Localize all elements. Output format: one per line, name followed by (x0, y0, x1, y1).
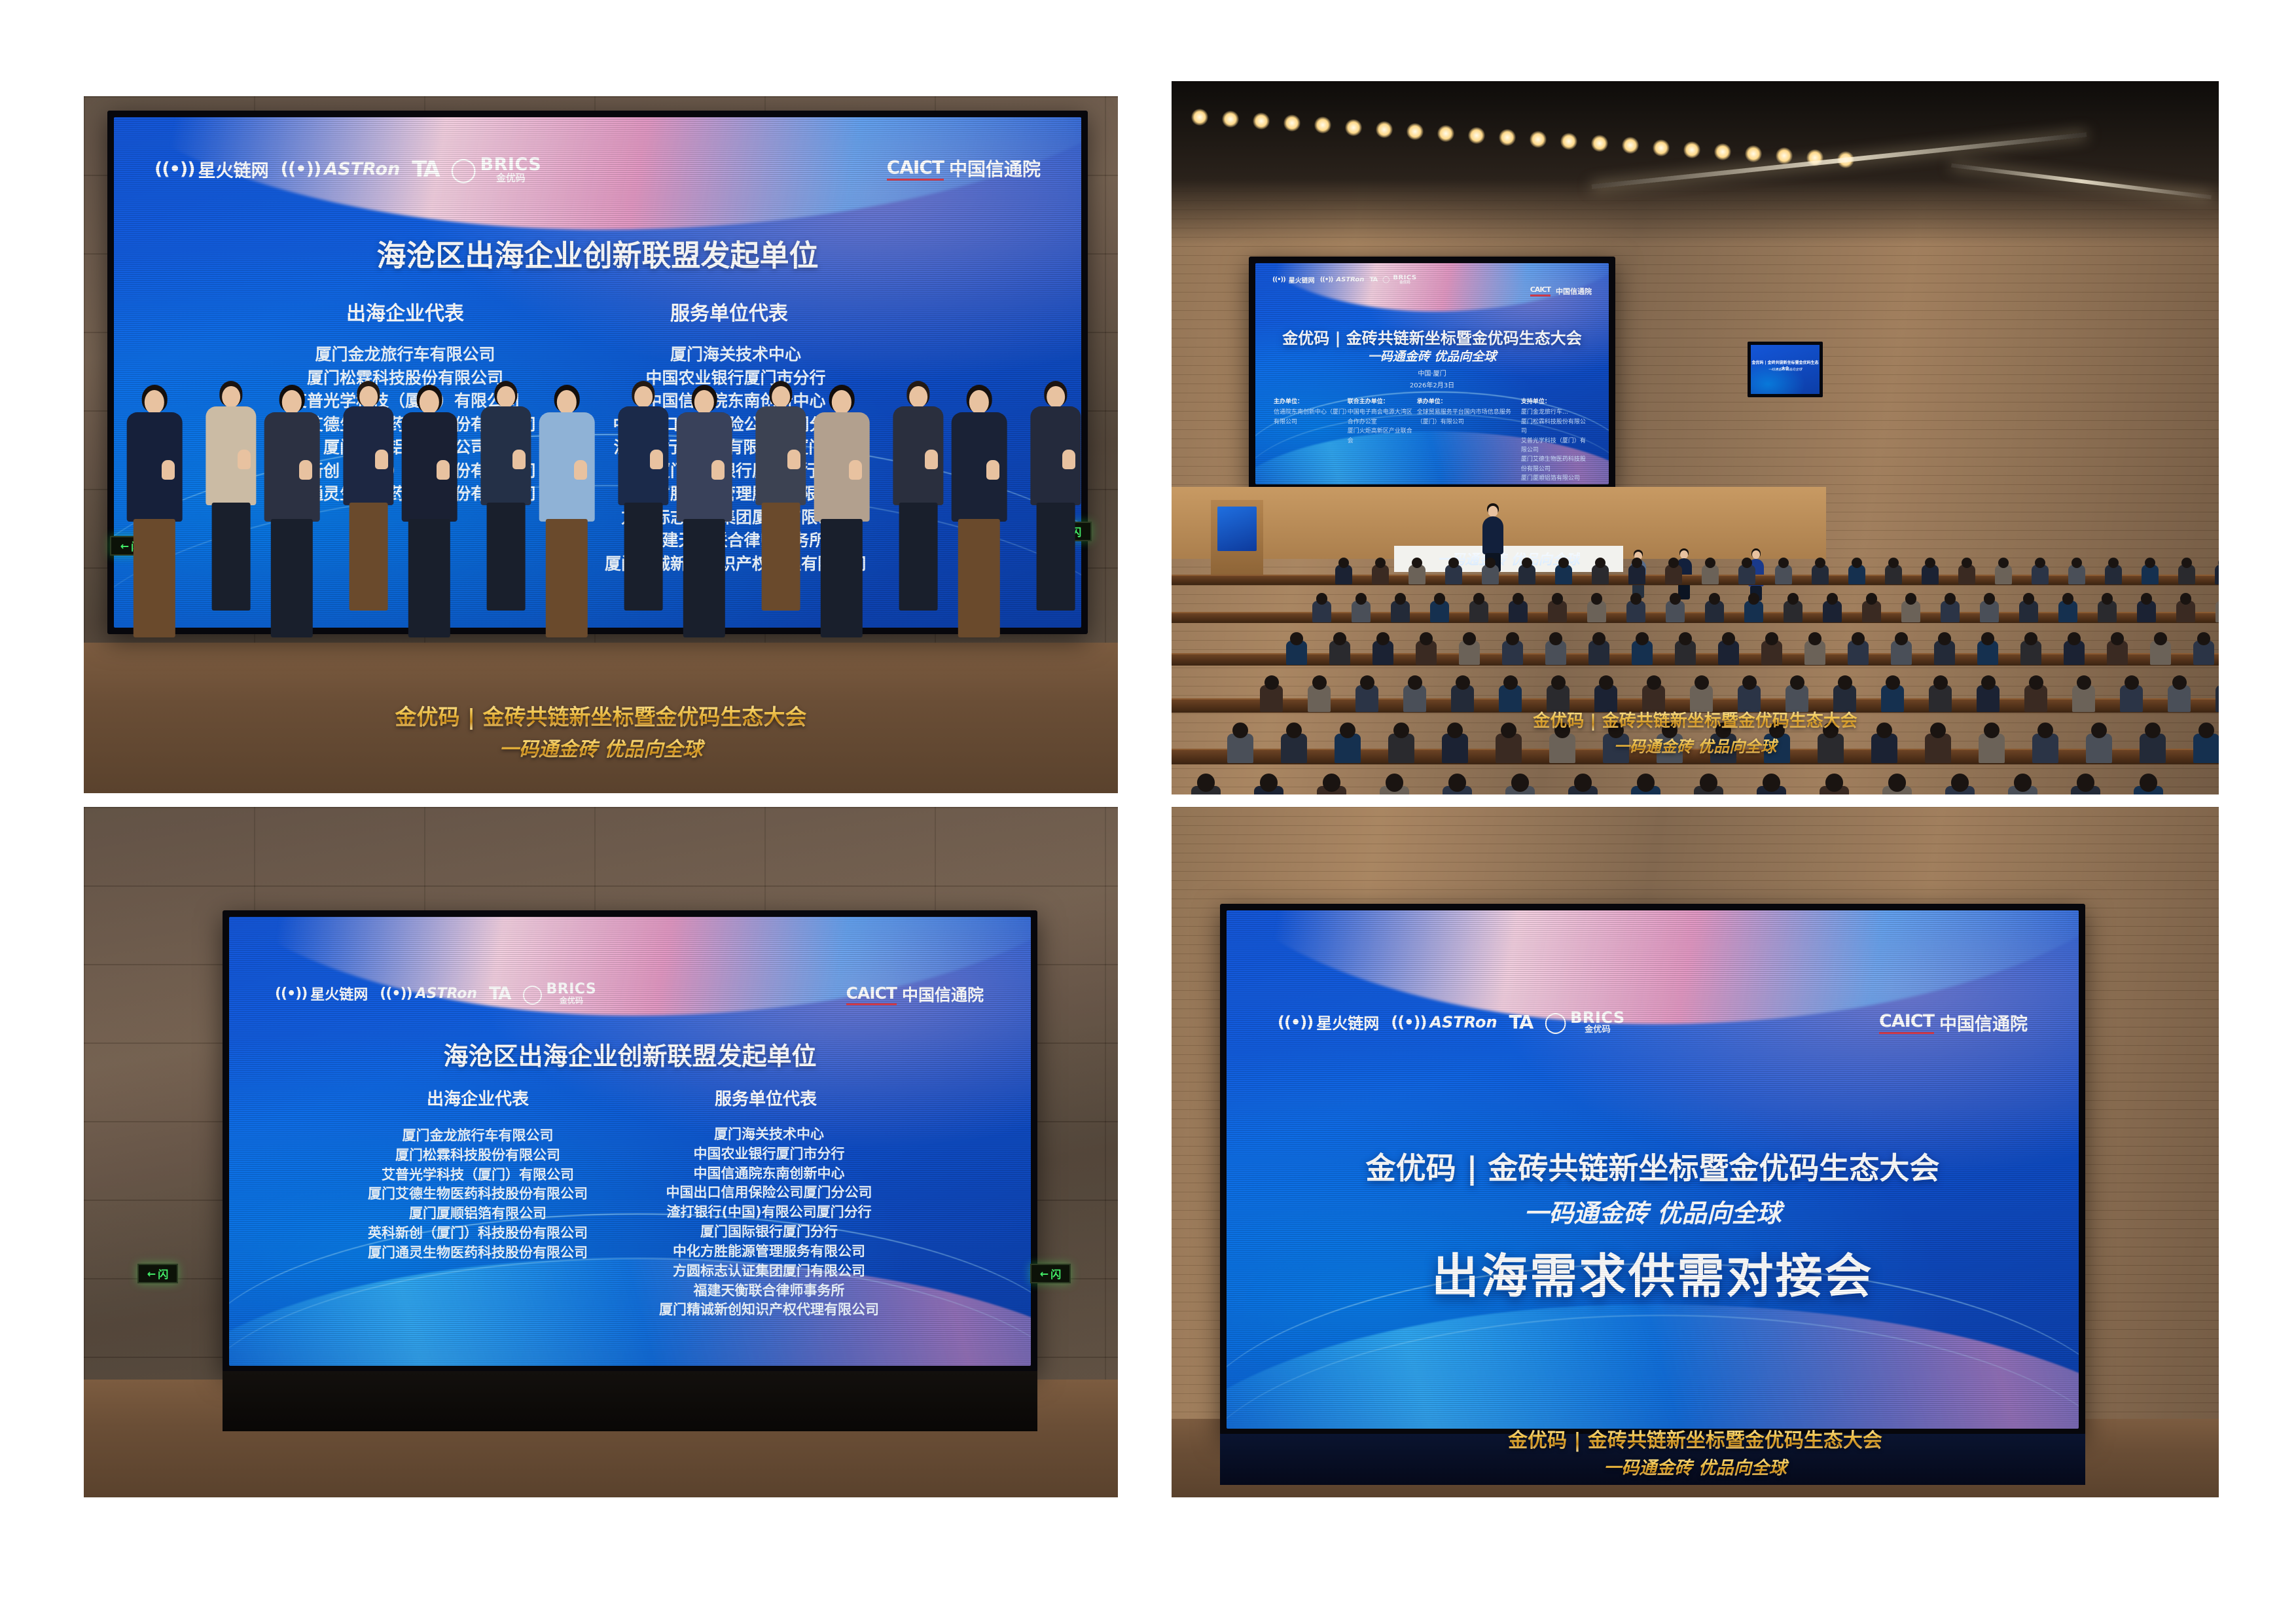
sponsor-group-label: 承办单位： (1417, 397, 1521, 406)
audience-head (1420, 632, 1433, 645)
audience-head (1456, 675, 1470, 690)
audience-head (1742, 675, 1757, 690)
audience-head (1888, 558, 1899, 568)
logo-label: 星火链网 (1316, 1010, 1379, 1033)
logo-label: ASTRon (324, 159, 400, 179)
audience-head (1808, 632, 1821, 645)
audience-head (1787, 593, 1799, 605)
list-item: 中国农业银行厦门市分行 (628, 1145, 910, 1164)
watermark-line2: 一码通金砖 优品向全球 (1172, 1454, 2219, 1479)
group-photo-person (478, 381, 533, 597)
person-legs (487, 503, 526, 611)
list-item: 厦门金龙旅行车有限公司 (235, 343, 575, 366)
audience-head (1951, 774, 1969, 792)
audience-head (1895, 632, 1908, 645)
exit-arrow-icon: ← (147, 1268, 156, 1280)
audience-head (1852, 632, 1865, 645)
audience-head (1360, 675, 1374, 690)
thumbs-up-hand (375, 450, 388, 469)
audience-head (2172, 675, 2187, 690)
sponsor-logo-row: ((•)) 星火链网 ((•)) ASTRon TA ◯ BRICS (154, 155, 541, 183)
group-photo-person (891, 381, 946, 597)
audience-head (1599, 675, 1613, 690)
logo-label: 星火链网 (198, 156, 269, 182)
person-head (634, 386, 653, 408)
sponsor-group-label: 联合主办单位： (1348, 397, 1417, 406)
audience-head (1815, 558, 1825, 568)
audience-head (1511, 774, 1530, 792)
audience-head (2102, 593, 2113, 605)
person-head (1047, 386, 1065, 408)
audience-head (1722, 632, 1735, 645)
audience-head (2023, 593, 2035, 605)
audience-head (2145, 558, 2155, 568)
audience-head (1763, 774, 1781, 792)
audience-head (2125, 675, 2139, 690)
caict-label: 中国信通院 (1556, 286, 1592, 296)
caict-label: 中国信通院 (1939, 1010, 2028, 1035)
logo-label: ASTRon (1336, 276, 1364, 283)
sponsor-name: 厦门艾德生物医药科技股份有限公司 (1521, 455, 1590, 474)
logo-label: 星火链网 (310, 983, 368, 1004)
audience-head (1591, 593, 1603, 605)
audience-head (1412, 558, 1422, 568)
photo-collage-page: ((•)) 星火链网 ((•)) ASTRon TA ◯ BRICS (0, 0, 2296, 1623)
thumbs-up-hand (437, 460, 450, 480)
ceiling (1172, 81, 2219, 245)
led-screen: ((•))星火链网 ((•))ASTRon TA ◯ BRICS金优码 CAIC… (1220, 904, 2085, 1435)
ceiling-spotlight (1345, 119, 1362, 136)
audience-head (1778, 558, 1789, 568)
sponsor-credits: 主办单位：信通院东南创新中心（厦门）有限公司联合主办单位：中国电子商会电源大湾区… (1274, 397, 1590, 484)
audience-head (1886, 675, 1900, 690)
person-head (222, 386, 240, 408)
seat-row (1172, 575, 2219, 585)
audience-head (1852, 558, 1862, 568)
audience-head (1376, 632, 1390, 645)
exit-arrow-icon: ← (1040, 1268, 1049, 1280)
audience-head (1637, 774, 1655, 792)
ceiling-spotlight (1191, 109, 1208, 126)
column-heading-services: 服务单位代表 (598, 297, 860, 326)
audience-head (1632, 558, 1642, 568)
ta-monogram-icon: TA (489, 984, 510, 1004)
screen-base (223, 1371, 1037, 1431)
ceiling-spotlight (1653, 139, 1670, 156)
audience-head (1748, 593, 1760, 605)
audience-head (1552, 593, 1564, 605)
person-head (359, 386, 378, 408)
audience-head (2154, 632, 2167, 645)
thumbs-up-hand (787, 450, 800, 469)
person-legs (546, 519, 588, 637)
audience-head (2077, 675, 2091, 690)
audience-head (1513, 593, 1524, 605)
person-head (282, 390, 302, 414)
wifi-signal-icon: ((•)) (1391, 1013, 1426, 1031)
list-item: 中国出口信用保险公司厦门分公司 (628, 1183, 910, 1203)
audience-head (1463, 632, 1476, 645)
audience-head (1981, 675, 1996, 690)
audience-head (1592, 632, 1605, 645)
audience-head (1260, 774, 1278, 792)
sponsor-name: 艾普光学科技（厦门）有限公司 (1521, 437, 1590, 455)
audience-head (1265, 675, 1279, 690)
audience-head (2108, 558, 2119, 568)
audience-head (1998, 558, 2009, 568)
sponsor-group: 支持单位：厦门金龙旅行车…厦门松霖科技股份有限公司艾普光学科技（厦门）有限公司厦… (1521, 397, 1590, 484)
audience-head (1981, 632, 1994, 645)
audience-head (1888, 774, 1907, 792)
ceiling-spotlight (1683, 141, 1700, 158)
audience-head (1473, 593, 1485, 605)
audience-head (1355, 593, 1367, 605)
audience-head (1925, 558, 1935, 568)
group-photo-person (949, 385, 1009, 622)
audience-head (1679, 632, 1692, 645)
audience-head (2068, 632, 2081, 645)
audience-head (2197, 632, 2210, 645)
person-head (694, 390, 714, 414)
audience-head (1522, 558, 1532, 568)
sponsor-name: 厦门松霖科技股份有限公司 (1521, 418, 1590, 437)
logo-ta: TA (412, 156, 439, 182)
thumbs-up-hand (162, 460, 175, 480)
audience-head (1933, 675, 1948, 690)
sponsor-group-label: 支持单位： (1521, 397, 1590, 406)
person-head (909, 386, 927, 408)
audience-head (2180, 593, 2192, 605)
audience-head (1503, 675, 1518, 690)
list-item: 中国信通院东南创新中心 (628, 1164, 910, 1184)
column-heading-enterprises: 出海企业代表 (281, 297, 529, 326)
sponsor-name: 厦门厦顺铝箔有限公司 (1521, 474, 1590, 483)
list-item: 厦门海关技术中心 (628, 1125, 910, 1145)
logo-label: ASTRon (1429, 1013, 1497, 1031)
audience-head (2072, 558, 2082, 568)
brics-ring-icon: ◯ (450, 155, 477, 183)
audience-head (1395, 593, 1407, 605)
audience-head (2014, 774, 2032, 792)
sponsor-name: 厦门精诚新创知识产权代理有限公司 (1521, 484, 1590, 484)
list-item: 福建天衡联合律师事务所 (628, 1281, 910, 1301)
logo-xinghuolianwang: ((•)) 星火链网 (154, 156, 269, 182)
audience-head (2140, 774, 2158, 792)
audience-head (1668, 558, 1679, 568)
watermark-line2: 一码通金砖 优品向全球 (1172, 734, 2219, 757)
person-head (772, 386, 790, 408)
audience-head (1290, 632, 1303, 645)
ceiling-spotlight (1776, 147, 1793, 164)
thumbs-up-hand (925, 450, 938, 469)
person-legs (821, 519, 863, 637)
wifi-signal-icon: ((•)) (1278, 1013, 1313, 1031)
watermark-line1: 金优码 | 金砖共链新坐标暨金优码生态大会 (1172, 707, 2219, 732)
thumbs-up-hand (238, 450, 251, 469)
person-legs (408, 519, 450, 637)
logo-astron: ((•)) ASTRon (281, 159, 401, 179)
ta-monogram-icon: TA (412, 156, 439, 182)
logo-sublabel: 金优码 (560, 997, 583, 1005)
sponsor-name: 中国电子商会电源大湾区合作办公室 (1348, 408, 1417, 427)
podium (1211, 500, 1263, 579)
logo-label: ASTRon (416, 986, 478, 1002)
list-item: 厦门厦顺铝箔有限公司 (327, 1204, 628, 1224)
audience-head (2024, 632, 2037, 645)
audience-head (1312, 675, 1327, 690)
logo-label: BRICS (480, 156, 542, 173)
logo-label: 星火链网 (1289, 275, 1315, 285)
screen-date: 2026年2月3日 (1255, 380, 1609, 389)
person-head (557, 390, 577, 414)
audience-head (1765, 632, 1778, 645)
wifi-signal-icon: ((•)) (1320, 276, 1333, 283)
person-legs (1037, 503, 1075, 611)
wifi-signal-icon: ((•)) (380, 986, 412, 1002)
wifi-signal-icon: ((•)) (154, 159, 195, 179)
group-photo-person (1028, 381, 1083, 597)
list-item: 中化方胜能源管理服务有限公司 (628, 1242, 910, 1262)
caict-logo: CAICT 中国信通院 (887, 155, 1041, 181)
ceiling-spotlight (1745, 145, 1762, 162)
ceiling-spotlight (1222, 111, 1239, 128)
person-legs (762, 503, 800, 611)
audience-head (1434, 593, 1446, 605)
led-screen: ((•))星火链网 ((•))ASTRon TA ◯ BRICS金优码 CAIC… (223, 910, 1037, 1372)
person-head (497, 386, 515, 408)
list-item: 方圆标志认证集团厦门有限公司 (628, 1262, 910, 1281)
logo-sublabel: 金优码 (1399, 281, 1410, 285)
exit-sign: ← 闪 (1030, 1264, 1071, 1283)
screen-title: 海沧区出海企业创新联盟发起单位 (229, 1036, 1031, 1072)
audience-head (1448, 774, 1467, 792)
list-item: 艾普光学科技（厦门）有限公司 (327, 1166, 628, 1185)
wifi-signal-icon: ((•)) (281, 159, 321, 179)
audience-head (1670, 593, 1681, 605)
group-photo-person (753, 381, 808, 597)
ceiling-spotlight (1499, 129, 1516, 146)
audience-head (1700, 774, 1718, 792)
list-item: 渣打银行(中国)有限公司厦门分行 (628, 1203, 910, 1222)
screen-title: 海沧区出海企业创新联盟发起单位 (114, 232, 1081, 274)
exit-label: 闪 (1050, 1266, 1061, 1281)
thumbs-up-hand (299, 460, 312, 480)
ta-monogram-icon: TA (1509, 1011, 1533, 1033)
sponsor-name: 信通院东南创新中心（厦门）有限公司 (1274, 408, 1348, 427)
thumbs-up-hand (1062, 450, 1075, 469)
screen-title: 金优码 | 金砖共链新坐标暨金优码生态大会 (1227, 1145, 2079, 1188)
person-legs (350, 503, 388, 611)
logo-label: BRICS (1570, 1010, 1625, 1026)
audience-head (2111, 632, 2124, 645)
logo-label: BRICS (546, 982, 596, 997)
audience-head (1790, 675, 1804, 690)
wifi-signal-icon: ((•)) (1272, 276, 1285, 283)
side-monitor: 金优码 | 金砖共链新坐标暨金优码生态大会 一码通金砖 优品向全球 (1748, 342, 1823, 397)
screen-location: 中国·厦门 (1255, 368, 1609, 378)
audience-member (2215, 565, 2219, 584)
caict-mark: CAICT (1879, 1011, 1934, 1034)
audience-head (1595, 558, 1605, 568)
person-head (420, 390, 439, 414)
audience-head (1558, 558, 1569, 568)
audience-head (1630, 593, 1642, 605)
audience-head (1945, 593, 1956, 605)
audience-head (1938, 632, 1951, 645)
person-legs (271, 519, 313, 637)
audience-head (1333, 632, 1346, 645)
sponsor-name: 厦门金龙旅行车… (1521, 408, 1590, 417)
logo-brics-jinyouma: ◯ BRICS 金优码 (450, 155, 541, 183)
sponsor-group: 联合主办单位：中国电子商会电源大湾区合作办公室厦门火炬高新区产业联合会 (1348, 397, 1417, 484)
audience-head (1962, 558, 1972, 568)
photo-led-alliance-list[interactable]: ((•))星火链网 ((•))ASTRon TA ◯ BRICS金优码 CAIC… (84, 807, 1118, 1497)
thumbs-up-hand (986, 460, 999, 480)
audience-head (1386, 774, 1404, 792)
audience-head (2181, 558, 2192, 568)
audience-head (1549, 632, 1562, 645)
group-photo-person (674, 385, 734, 622)
ceiling-spotlight (1407, 123, 1424, 140)
audience-head (1742, 558, 1752, 568)
caict-logo: CAICT 中国信通院 (1879, 1010, 2028, 1035)
watermark-line2: 一码通金砖 优品向全球 (84, 733, 1118, 762)
watermark-line1: 金优码 | 金砖共链新坐标暨金优码生态大会 (1172, 1424, 2219, 1453)
audience-head (1551, 675, 1566, 690)
audience-head (1709, 593, 1721, 605)
logo-sublabel: 金优码 (1585, 1026, 1611, 1034)
column-heading-enterprises: 出海企业代表 (353, 1086, 602, 1110)
ceiling-spotlight (1530, 131, 1547, 148)
list-item: 英科新创（厦门）科技股份有限公司 (327, 1224, 628, 1243)
person-head (969, 390, 989, 414)
caict-mark: CAICT (846, 984, 897, 1005)
sponsor-group: 承办单位：全球贸易服务平台国内市场信息服务（厦门）有限公司 (1417, 397, 1521, 484)
thumbs-up-hand (574, 460, 587, 480)
audience-head (1485, 558, 1496, 568)
ceiling-spotlight (1253, 113, 1270, 130)
caict-logo: CAICT 中国信通院 (846, 982, 984, 1006)
audience-head (1705, 558, 1715, 568)
ceiling-spotlight (1468, 127, 1485, 144)
exit-sign: ← 闪 (137, 1264, 178, 1283)
person-legs (212, 503, 251, 611)
sponsor-logo-row: ((•))星火链网 ((•))ASTRon TA ◯ BRICS金优码 (1278, 1010, 1625, 1034)
sponsor-logo-row: ((•))星火链网 ((•))ASTRon TA ◯ BRICS金优码 (1272, 275, 1417, 285)
audience-head (2062, 593, 2074, 605)
audience-head (1827, 593, 1839, 605)
person-legs (624, 503, 663, 611)
screen-slogan: 一码通金砖 优品向全球 (1255, 347, 1609, 365)
photo-group-stage[interactable]: ((•)) 星火链网 ((•)) ASTRon TA ◯ BRICS (84, 96, 1118, 793)
audience-member (2215, 601, 2219, 622)
thumbs-up-hand (512, 450, 526, 469)
audience-head (2035, 558, 2045, 568)
person-legs (899, 503, 938, 611)
logo-sublabel: 金优码 (496, 173, 526, 183)
list-item: 厦门通灵生物医药科技股份有限公司 (327, 1243, 628, 1263)
group-photo-person (341, 381, 396, 597)
photo-led-matchmaking[interactable]: ((•))星火链网 ((•))ASTRon TA ◯ BRICS金优码 CAIC… (1172, 807, 2219, 1497)
sponsor-group: 主办单位：信通院东南创新中心（厦门）有限公司 (1274, 397, 1348, 484)
brics-ring-icon: ◯ (522, 982, 543, 1005)
screen-slogan: 一码通金砖 优品向全球 (1227, 1193, 2079, 1229)
person-legs (683, 519, 725, 637)
caict-label: 中国信通院 (949, 155, 1041, 181)
list-item: 厦门艾德生物医药科技股份有限公司 (327, 1185, 628, 1204)
sponsor-name: 厦门火炬高新区产业联合会 (1348, 427, 1417, 446)
list-item: 厦门松霖科技股份有限公司 (327, 1146, 628, 1166)
brics-ring-icon: ◯ (1544, 1010, 1567, 1034)
ceiling-spotlight (1437, 125, 1454, 142)
audience-head (1375, 558, 1386, 568)
audience-head (1197, 774, 1215, 792)
enterprise-list: 厦门金龙旅行车有限公司厦门松霖科技股份有限公司艾普光学科技（厦门）有限公司厦门艾… (327, 1126, 628, 1263)
brics-ring-icon: ◯ (1382, 276, 1390, 283)
list-item: 厦门国际银行厦门分行 (628, 1222, 910, 1242)
audience-head (1448, 558, 1459, 568)
audience-head (2141, 593, 2153, 605)
main-led-screen: ((•))星火链网 ((•))ASTRon TA ◯ BRICS金优码 CAIC… (1249, 257, 1615, 491)
group-photo-person (124, 385, 185, 622)
list-item: 厦门精诚新创知识产权代理有限公司 (628, 1300, 910, 1320)
audience-head (1636, 632, 1649, 645)
audience-head (1825, 774, 1844, 792)
thumbs-up-hand (650, 450, 663, 469)
group-photo-person (812, 385, 872, 622)
audience-head (1408, 675, 1422, 690)
caict-logo: CAICT 中国信通院 (1530, 285, 1592, 296)
audience-head (1984, 593, 1996, 605)
person-legs (134, 519, 175, 637)
audience-head (1316, 593, 1328, 605)
group-photo-person (399, 385, 459, 622)
audience-head (1323, 774, 1341, 792)
side-monitor-slogan: 一码通金砖 优品向全球 (1751, 367, 1820, 372)
group-photo-person (204, 381, 259, 597)
audience-head (1647, 675, 1661, 690)
list-item: 厦门海关技术中心 (572, 343, 899, 366)
audience-head (1574, 774, 1592, 792)
ceiling-spotlight (1560, 133, 1577, 150)
caict-mark: CAICT (887, 156, 944, 181)
audience-head (1866, 593, 1878, 605)
column-heading-services: 服务单位代表 (641, 1086, 890, 1110)
photo-auditorium[interactable]: ((•))星火链网 ((•))ASTRon TA ◯ BRICS金优码 CAIC… (1172, 81, 2219, 794)
audience-head (1338, 558, 1349, 568)
caict-label: 中国信通院 (902, 982, 984, 1006)
group-photo-person (616, 381, 671, 597)
ta-monogram-icon: TA (1369, 276, 1377, 283)
list-item: 厦门金龙旅行车有限公司 (327, 1126, 628, 1146)
sponsor-group-label: 主办单位： (1274, 397, 1348, 406)
service-list: 厦门海关技术中心中国农业银行厦门市分行中国信通院东南创新中心中国出口信用保险公司… (628, 1125, 910, 1320)
sponsor-logo-row: ((•))星火链网 ((•))ASTRon TA ◯ BRICS金优码 (275, 982, 596, 1005)
exit-label: 闪 (158, 1266, 168, 1281)
person-head (145, 390, 164, 414)
ceiling-spotlight (1376, 121, 1393, 138)
person-head (832, 390, 852, 414)
person-legs (958, 519, 1000, 637)
audience-head (2029, 675, 2043, 690)
sponsor-name: 全球贸易服务平台国内市场信息服务（厦门）有限公司 (1417, 408, 1521, 427)
caict-mark: CAICT (1530, 285, 1551, 296)
wifi-signal-icon: ((•)) (275, 986, 307, 1002)
audience-head (1506, 632, 1519, 645)
ceiling-spotlight (1714, 143, 1731, 160)
watermark-line1: 金优码 | 金砖共链新坐标暨金优码生态大会 (84, 700, 1118, 731)
group-photo-person (537, 385, 597, 622)
